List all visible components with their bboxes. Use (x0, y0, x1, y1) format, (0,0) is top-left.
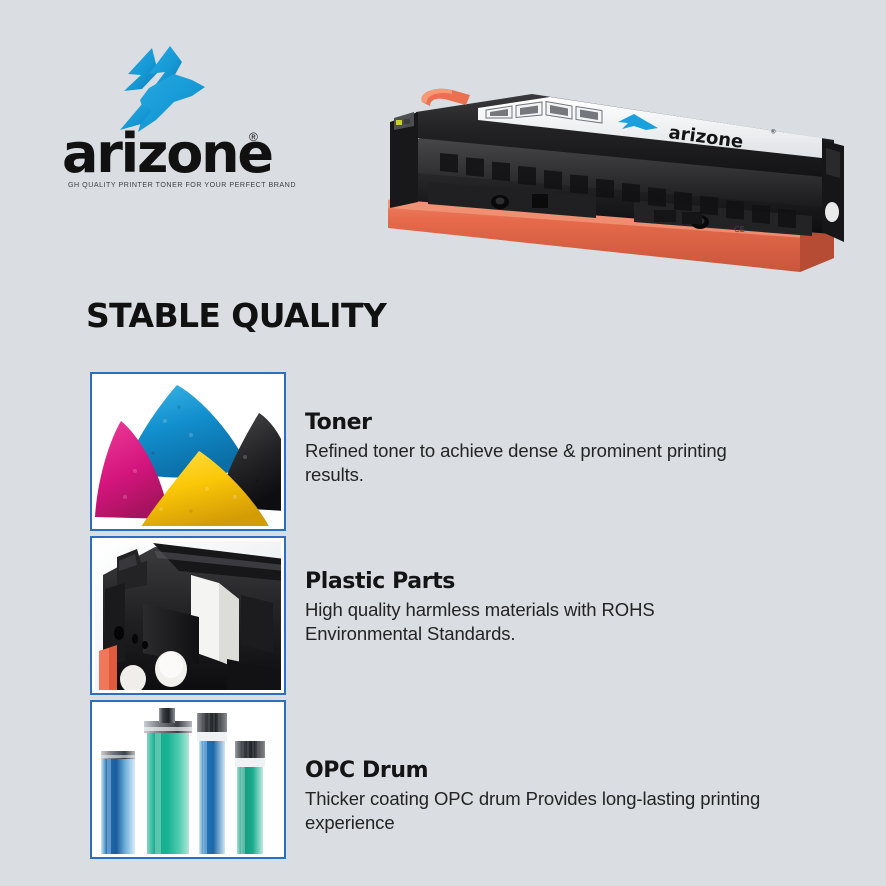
toner-powder-thumbnail (90, 372, 286, 531)
svg-text:CE: CE (734, 225, 745, 234)
feature-description: Thicker coating OPC drum Provides long-l… (305, 787, 775, 834)
plastic-parts-thumbnail (90, 536, 286, 695)
feature-title: OPC Drum (305, 758, 845, 784)
feature-text-toner: Toner Refined toner to achieve dense & p… (305, 410, 845, 486)
feature-item-toner: Toner Refined toner to achieve dense & p… (0, 372, 886, 536)
feature-title: Toner (305, 410, 845, 436)
feature-text-plastic-parts: Plastic Parts High quality harmless mate… (305, 569, 845, 645)
feature-item-plastic-parts: Plastic Parts High quality harmless mate… (0, 536, 886, 700)
feature-description: Refined toner to achieve dense & promine… (305, 439, 775, 486)
svg-text:®: ® (770, 128, 777, 136)
header: arizone ® GH QUALITY PRINTER TONER FOR Y… (0, 0, 886, 290)
brand-tagline: GH QUALITY PRINTER TONER FOR YOUR PERFEC… (68, 181, 280, 189)
product-cartridge-image: CE (382, 82, 850, 278)
brand-logo: arizone ® GH QUALITY PRINTER TONER FOR Y… (62, 44, 282, 194)
feature-item-opc-drum: OPC Drum Thicker coating OPC drum Provid… (0, 700, 886, 864)
feature-list: Toner Refined toner to achieve dense & p… (0, 372, 886, 864)
page-title: STABLE QUALITY (86, 296, 386, 335)
registered-trademark-icon: ® (249, 130, 258, 144)
opc-drum-thumbnail (90, 700, 286, 859)
feature-description: High quality harmless materials with ROH… (305, 598, 775, 645)
feature-title: Plastic Parts (305, 569, 845, 595)
feature-text-opc-drum: OPC Drum Thicker coating OPC drum Provid… (305, 758, 845, 834)
bird-icon (108, 44, 212, 132)
